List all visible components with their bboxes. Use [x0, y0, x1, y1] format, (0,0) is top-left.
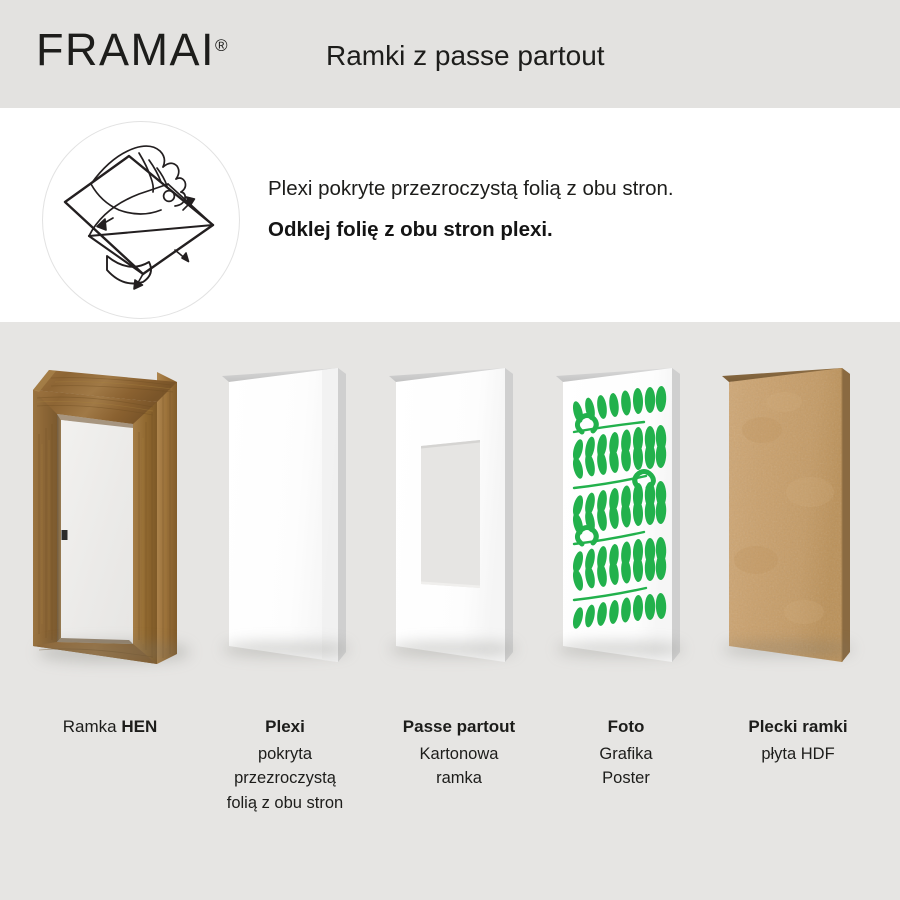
instruction-line-primary: Plexi pokryte przezroczystą folią z obu …	[268, 174, 868, 204]
hand-peeling-film-icon	[42, 121, 240, 319]
page-title: Ramki z passe partout	[326, 40, 605, 72]
label-foto-sub: Grafika Poster	[536, 742, 716, 792]
label-passe-partout: Passe partout Kartonowa ramka	[364, 714, 554, 791]
label-frame-title: Ramka HEN	[10, 714, 210, 740]
registered-trademark-icon: ®	[215, 36, 228, 55]
instruction-line-emphasis: Odklej folię z obu stron plexi.	[268, 215, 868, 245]
label-backing-sub: płyta HDF	[700, 742, 896, 767]
label-plexi-sub: pokryta przezroczystą folią z obu stron	[190, 742, 380, 816]
poster-print-icon	[552, 360, 702, 680]
label-foto: Foto Grafika Poster	[536, 714, 716, 791]
product-stage	[0, 322, 900, 690]
plexi-sheet-icon	[218, 360, 368, 680]
label-foto-title: Foto	[536, 714, 716, 740]
label-frame: Ramka HEN	[10, 714, 210, 740]
instruction-text-block: Plexi pokryte przezroczystą folią z obu …	[268, 174, 868, 244]
label-passe-partout-sub: Kartonowa ramka	[364, 742, 554, 792]
wooden-frame-icon	[25, 354, 205, 684]
label-plexi: Plexi pokryta przezroczystą folią z obu …	[190, 714, 380, 816]
label-backing-title: Plecki ramki	[700, 714, 896, 740]
product-breakdown-section: Ramka HEN Plexi pokryta przezroczystą fo…	[0, 322, 900, 900]
instruction-banner: Plexi pokryte przezroczystą folią z obu …	[0, 108, 900, 322]
label-passe-partout-title: Passe partout	[364, 714, 554, 740]
label-backing: Plecki ramki płyta HDF	[700, 714, 896, 766]
hdf-backing-board-icon	[718, 360, 874, 680]
passe-partout-mat-icon	[385, 360, 535, 680]
page-header: FRAMAI® Ramki z passe partout	[0, 0, 900, 108]
brand-logo: FRAMAI®	[36, 27, 228, 72]
label-plexi-title: Plexi	[190, 714, 380, 740]
brand-name: FRAMAI	[36, 24, 215, 75]
